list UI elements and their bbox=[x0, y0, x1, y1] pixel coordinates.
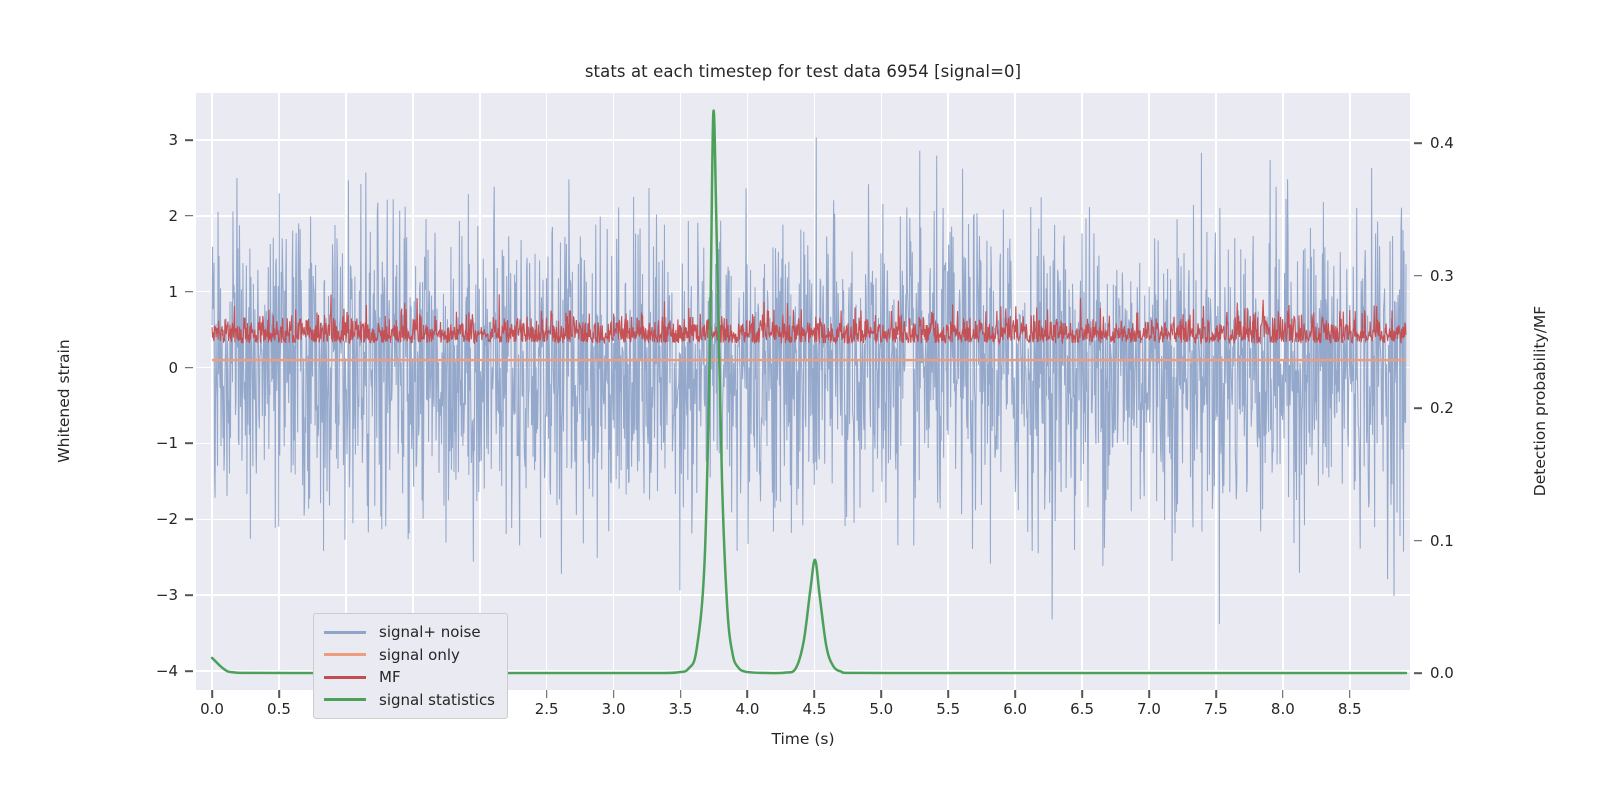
legend-item-label: signal only bbox=[379, 646, 460, 664]
x-axis-tick-mark bbox=[881, 690, 883, 698]
y-axis-left-tick-mark bbox=[185, 367, 193, 369]
y-axis-left-tick-label: 0 bbox=[120, 359, 178, 377]
x-axis-tick-label: 4.5 bbox=[802, 700, 826, 718]
y-axis-left-tick-label: 3 bbox=[120, 131, 178, 149]
y-axis-right-tick-mark bbox=[1414, 540, 1422, 542]
x-axis-label: Time (s) bbox=[196, 730, 1410, 748]
legend-item-label: signal+ noise bbox=[379, 623, 481, 641]
legend-item[interactable]: signal+ noise bbox=[324, 621, 495, 644]
x-axis-tick-mark bbox=[1081, 690, 1083, 698]
x-axis-tick-label: 8.0 bbox=[1271, 700, 1295, 718]
y-axis-right-tick-label: 0.1 bbox=[1430, 532, 1454, 550]
legend-item[interactable]: MF bbox=[324, 666, 495, 689]
x-axis-tick-mark bbox=[947, 690, 949, 698]
x-axis-tick-label: 8.5 bbox=[1338, 700, 1362, 718]
page-title: stats at each timestep for test data 695… bbox=[196, 62, 1410, 81]
x-axis-tick-label: 6.0 bbox=[1003, 700, 1027, 718]
y-axis-right-label: Detection probability/MF bbox=[1531, 251, 1549, 551]
y-axis-left-tick-mark bbox=[185, 215, 193, 217]
x-axis-tick-mark bbox=[814, 690, 816, 698]
y-axis-left-tick-label: −2 bbox=[120, 510, 178, 528]
y-axis-left-tick-mark bbox=[185, 291, 193, 293]
x-axis-tick-label: 4.0 bbox=[736, 700, 760, 718]
y-axis-right-tick-mark bbox=[1414, 275, 1422, 277]
x-axis-tick-label: 3.5 bbox=[669, 700, 693, 718]
x-axis-tick-mark bbox=[1215, 690, 1217, 698]
y-axis-left-tick-mark bbox=[185, 594, 193, 596]
x-axis-tick-mark bbox=[1148, 690, 1150, 698]
x-axis-tick-label: 7.5 bbox=[1204, 700, 1228, 718]
x-axis-tick-label: 0.0 bbox=[200, 700, 224, 718]
chart-legend: signal+ noisesignal onlyMFsignal statist… bbox=[313, 613, 508, 719]
y-axis-right-tick-label: 0.0 bbox=[1430, 664, 1454, 682]
y-axis-left-tick-mark bbox=[185, 139, 193, 141]
x-axis-tick-label: 2.5 bbox=[535, 700, 559, 718]
x-axis-tick-label: 0.5 bbox=[267, 700, 291, 718]
x-axis-tick-mark bbox=[613, 690, 615, 698]
x-axis-tick-label: 5.5 bbox=[936, 700, 960, 718]
y-axis-right-tick-mark bbox=[1414, 407, 1422, 409]
x-axis-tick-label: 7.0 bbox=[1137, 700, 1161, 718]
legend-item-label: signal statistics bbox=[379, 691, 495, 709]
legend-color-swatch bbox=[324, 676, 366, 679]
x-axis-tick-mark bbox=[1349, 690, 1351, 698]
x-axis-tick-mark bbox=[747, 690, 749, 698]
y-axis-left-label: Whitened strain bbox=[55, 301, 73, 501]
y-axis-left-tick-label: 1 bbox=[120, 283, 178, 301]
legend-color-swatch bbox=[324, 631, 366, 634]
y-axis-right-tick-mark bbox=[1414, 672, 1422, 674]
plot-canvas bbox=[196, 93, 1410, 690]
legend-item[interactable]: signal statistics bbox=[324, 689, 495, 712]
x-axis-tick-mark bbox=[546, 690, 548, 698]
x-axis-tick-label: 5.0 bbox=[869, 700, 893, 718]
legend-color-swatch bbox=[324, 653, 366, 656]
y-axis-left-tick-mark bbox=[185, 443, 193, 445]
y-axis-left-tick-mark bbox=[185, 670, 193, 672]
y-axis-left-tick-label: −4 bbox=[120, 662, 178, 680]
y-axis-left-tick-label: −3 bbox=[120, 586, 178, 604]
series-signal-plus-noise bbox=[212, 137, 1406, 624]
y-axis-right-tick-label: 0.4 bbox=[1430, 134, 1454, 152]
y-axis-right-tick-label: 0.2 bbox=[1430, 399, 1454, 417]
legend-item[interactable]: signal only bbox=[324, 644, 495, 667]
x-axis-tick-mark bbox=[680, 690, 682, 698]
chart-figure: stats at each timestep for test data 695… bbox=[0, 0, 1600, 800]
plot-area bbox=[196, 93, 1410, 690]
y-axis-left-tick-mark bbox=[185, 519, 193, 521]
x-axis-tick-mark bbox=[1282, 690, 1284, 698]
legend-color-swatch bbox=[324, 698, 366, 701]
x-axis-tick-mark bbox=[1014, 690, 1016, 698]
x-axis-tick-label: 3.0 bbox=[602, 700, 626, 718]
y-axis-left-tick-label: 2 bbox=[120, 207, 178, 225]
legend-item-label: MF bbox=[379, 668, 401, 686]
y-axis-right-tick-label: 0.3 bbox=[1430, 267, 1454, 285]
y-axis-left-tick-label: −1 bbox=[120, 434, 178, 452]
y-axis-right-tick-mark bbox=[1414, 142, 1422, 144]
x-axis-tick-mark bbox=[278, 690, 280, 698]
x-axis-tick-mark bbox=[211, 690, 213, 698]
x-axis-tick-label: 6.5 bbox=[1070, 700, 1094, 718]
